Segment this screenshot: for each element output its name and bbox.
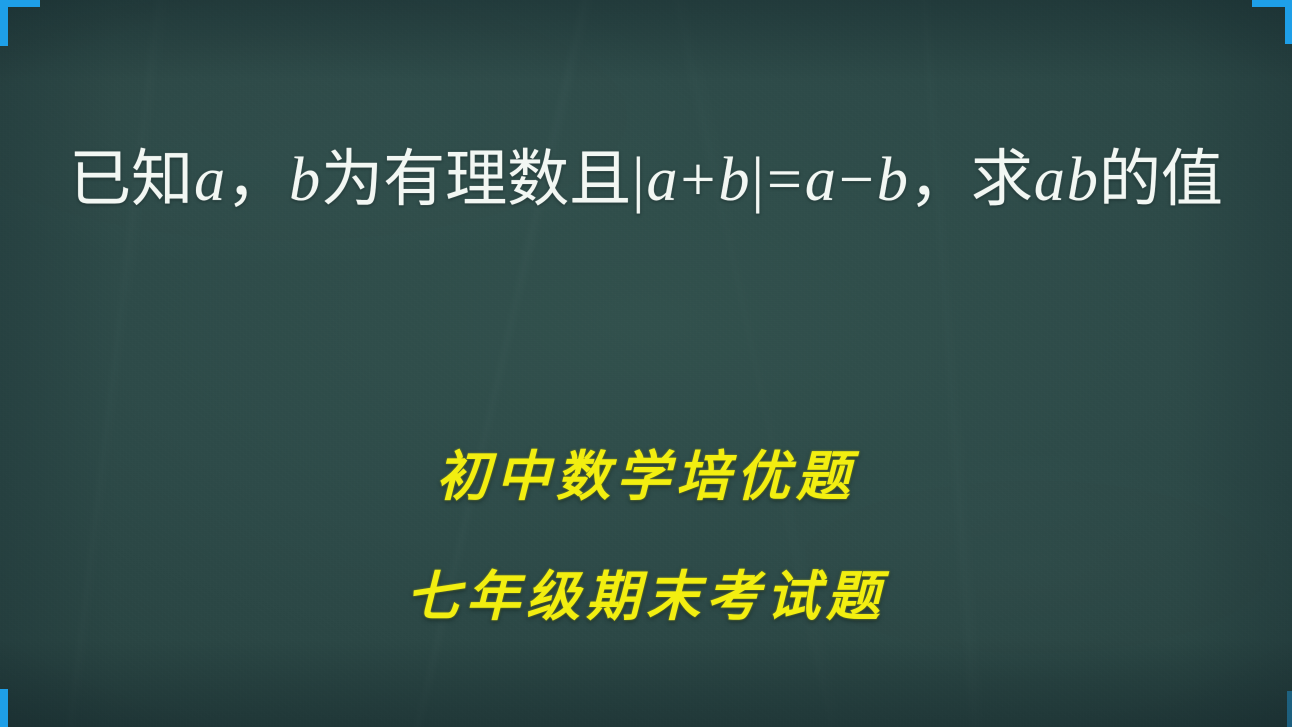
subtitle-category: 初中数学培优题 xyxy=(0,432,1292,511)
target-var-b: b xyxy=(1066,146,1099,214)
problem-statement: 已知a，b为有理数且|a+b|=a−b，求ab的值 xyxy=(0,144,1292,215)
abs-open-bar: | xyxy=(631,146,645,214)
problem-known-label: 已知 xyxy=(69,142,193,215)
target-var-a: a xyxy=(1033,146,1066,214)
subtitle-exam: 七年级期末考试题 xyxy=(0,552,1292,631)
chalkboard-slide: 已知a，b为有理数且|a+b|=a−b，求ab的值 初中数学培优题 七年级期末考… xyxy=(0,0,1292,727)
abs-term-b: b xyxy=(718,146,751,214)
minus-operator: − xyxy=(837,146,876,214)
problem-comma-2: ， xyxy=(909,142,971,215)
problem-comma-1: ， xyxy=(226,142,288,215)
rhs-term-b: b xyxy=(876,146,909,214)
problem-var-a: a xyxy=(193,146,226,214)
problem-find-label: 求 xyxy=(971,142,1033,215)
plus-operator: + xyxy=(679,146,718,214)
abs-term-a: a xyxy=(646,146,679,214)
equals-operator: = xyxy=(765,146,804,214)
problem-rational-phrase: 为有理数且 xyxy=(321,142,631,215)
problem-var-b: b xyxy=(288,146,321,214)
problem-value-label: 的值 xyxy=(1099,142,1223,215)
rhs-term-a: a xyxy=(804,146,837,214)
abs-close-bar: | xyxy=(751,146,765,214)
